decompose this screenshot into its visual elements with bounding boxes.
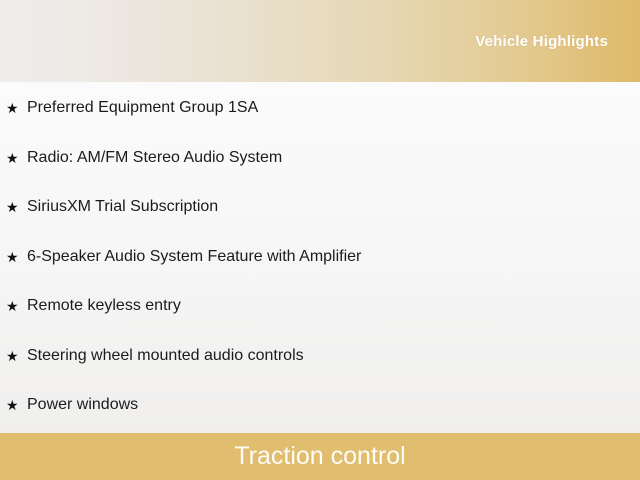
list-item: ★Radio: AM/FM Stereo Audio System — [0, 146, 282, 170]
list-item-label: Power windows — [27, 395, 138, 415]
star-bullet-icon: ★ — [6, 101, 27, 115]
footer-caption: Traction control — [234, 444, 405, 469]
star-bullet-icon: ★ — [6, 398, 27, 412]
list-item: ★Preferred Equipment Group 1SA — [0, 96, 258, 120]
list-item-label: Radio: AM/FM Stereo Audio System — [27, 148, 282, 168]
list-item-label: Remote keyless entry — [27, 296, 181, 316]
list-item-label: 6-Speaker Audio System Feature with Ampl… — [27, 247, 361, 267]
star-bullet-icon: ★ — [6, 349, 27, 363]
vehicle-highlights-slide: Vehicle Highlights ★Preferred Equipment … — [0, 0, 640, 480]
list-item: ★SiriusXM Trial Subscription — [0, 195, 218, 219]
star-bullet-icon: ★ — [6, 250, 27, 264]
list-item: ★6-Speaker Audio System Feature with Amp… — [0, 245, 361, 269]
vehicle-highlights-list: ★Preferred Equipment Group 1SA★Radio: AM… — [0, 82, 640, 433]
page-title: Vehicle Highlights — [475, 33, 640, 50]
list-item: ★Remote keyless entry — [0, 294, 181, 318]
list-item-label: Preferred Equipment Group 1SA — [27, 98, 258, 118]
list-item: ★Power windows — [0, 393, 138, 417]
list-item-label: Steering wheel mounted audio controls — [27, 346, 304, 366]
star-bullet-icon: ★ — [6, 299, 27, 313]
star-bullet-icon: ★ — [6, 200, 27, 214]
star-bullet-icon: ★ — [6, 151, 27, 165]
list-item-label: SiriusXM Trial Subscription — [27, 197, 218, 217]
footer-banner: Traction control — [0, 433, 640, 480]
list-item: ★Steering wheel mounted audio controls — [0, 344, 304, 368]
header-band: Vehicle Highlights — [0, 0, 640, 82]
